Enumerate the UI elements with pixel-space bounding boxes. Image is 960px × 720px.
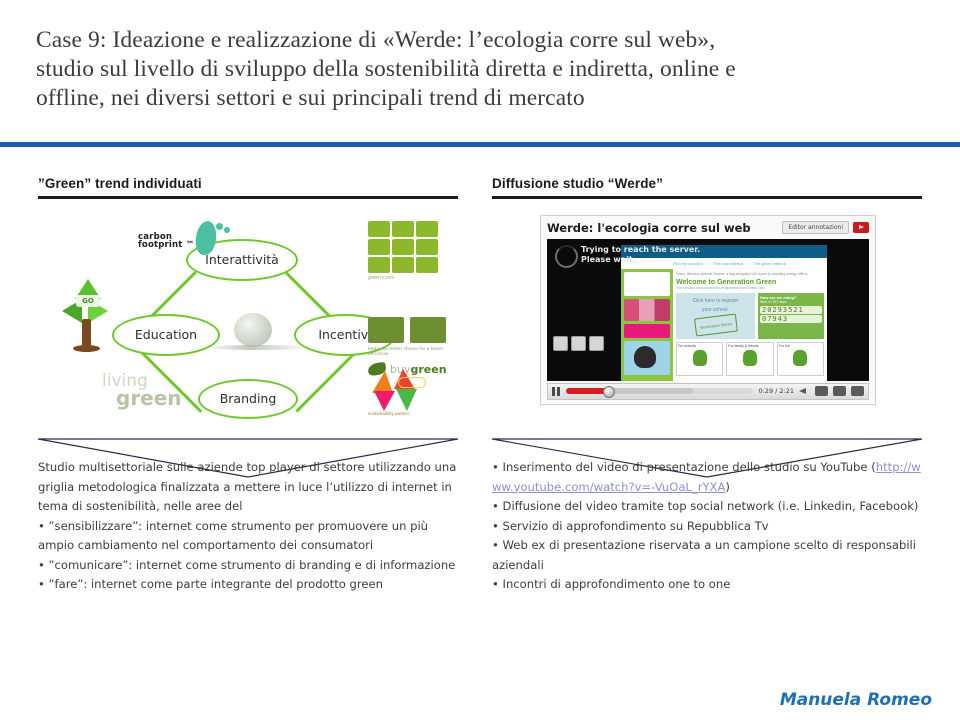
captured-sidebar-card: [624, 272, 670, 296]
olympic-shard-icon: [372, 371, 393, 393]
sustainability-partner-caption: sustainability partner: [368, 411, 409, 416]
buygreen-caption: Make the better choice for a better tomo…: [368, 346, 464, 356]
captured-card-label: For family & friends: [728, 344, 758, 348]
page-title-line-3: offline, nei diversi settori e sui princ…: [36, 84, 926, 113]
olympic-shard-icon: [374, 391, 395, 411]
buygreen-badges: [368, 317, 464, 343]
progress-handle[interactable]: [603, 386, 615, 398]
captured-stats-panel: How are we doing? Well, in 337 days... 2…: [758, 293, 824, 339]
grid-cell-icon: [392, 221, 414, 237]
green-icon-grid-logo: green icons: [368, 221, 442, 277]
diagram-node-education: Education: [112, 314, 220, 356]
player-actions: Editor annotazioni: [782, 221, 869, 234]
right-bullet-1-suffix: ): [725, 480, 730, 494]
captured-body: Tesco, Windsor Avenue School, a flag-acc…: [621, 269, 827, 381]
video-title: Werde: l'ecologia corre sul web: [547, 221, 751, 235]
buygreen-badge-icon: [368, 317, 404, 343]
video-stage[interactable]: Trying to reach the server. Please wait.…: [547, 239, 869, 381]
right-bullet-1: • Inserimento del video di presentazione…: [492, 458, 922, 497]
footprint-toe-icon: [216, 223, 223, 230]
buygreen-badge-icon: [410, 317, 446, 343]
captured-register-box: Click here to register your school. Gene…: [676, 293, 755, 339]
captured-register-line-2: your school.: [702, 307, 729, 313]
loading-message-line-1: Trying to reach the server.: [581, 245, 700, 255]
left-body-text: Studio multisettoriale sulle aziende top…: [38, 458, 458, 595]
captured-card-label: For schools: [678, 344, 696, 348]
grid-cell-icon: [416, 221, 438, 237]
olympic-rings-icon: [398, 377, 426, 388]
loading-message-line-2: Please wait...: [581, 255, 700, 265]
go-badge-label: GO: [76, 295, 100, 307]
captured-card: For family & friends: [726, 342, 773, 376]
grid-cell-icon: [392, 239, 414, 255]
right-bullet-4: • Web ex di presentazione riservata a un…: [492, 536, 922, 575]
diagram-node-branding: Branding: [198, 379, 298, 419]
captured-counter-2: 07943: [760, 315, 822, 323]
globe-shadow: [206, 345, 312, 350]
green-icon-grid: [368, 221, 442, 273]
captured-card-label: For fun: [779, 344, 790, 348]
youtube-logo-icon[interactable]: [853, 222, 869, 233]
captured-subhead: The schools and community programme from…: [676, 286, 824, 290]
grid-cell-icon: [416, 239, 438, 255]
loading-message: Trying to reach the server. Please wait.…: [581, 245, 700, 265]
player-controls[interactable]: 0:29 / 2:21: [547, 383, 869, 400]
captured-main: Tesco, Windsor Avenue School, a flag-acc…: [673, 269, 827, 381]
volume-icon[interactable]: [799, 386, 810, 396]
quality-icon[interactable]: [833, 386, 846, 396]
carbon-footprint-logo: carbon footprint ™: [138, 221, 234, 269]
grid-cell-icon: [392, 257, 414, 273]
progress-played: [566, 388, 607, 394]
green-trend-diagram: Interattività Education Incentivi Brandi…: [38, 209, 458, 417]
page-title-line-1: Case 9: Ideazione e realizzazione di «We…: [36, 26, 926, 55]
left-bullet-2: • ”comunicare”: internet come strumento …: [38, 556, 458, 576]
game-icon: [793, 350, 807, 366]
sustainability-partner-logo: sustainability partner: [368, 369, 442, 417]
footprint-toe-icon: [224, 227, 230, 233]
progress-bar[interactable]: [566, 388, 753, 394]
captured-nav-item: The green riders ▸: [753, 261, 785, 266]
right-panel: Diffusione studio “Werde” Werde: l'ecolo…: [492, 176, 922, 417]
loading-spinner-icon: [555, 245, 578, 268]
living-green-logo: living green: [102, 371, 206, 411]
right-bullet-3: • Servizio di approfondimento su Repubbl…: [492, 517, 922, 537]
captured-row: Click here to register your school. Gene…: [676, 293, 824, 339]
player-titlebar: Werde: l'ecologia corre sul web Editor a…: [547, 221, 869, 235]
captured-cards: For schools For family & friends For fun: [676, 342, 824, 376]
olympic-shard-icon: [396, 389, 417, 411]
previous-button[interactable]: [553, 336, 568, 351]
left-bullet-1: • ”sensibilizzare”: internet come strume…: [38, 517, 458, 556]
page-title: Case 9: Ideazione e realizzazione di «We…: [36, 26, 926, 113]
footprint-icon: [194, 219, 219, 255]
right-bullet-1-text: • Inserimento del video di presentazione…: [492, 460, 876, 474]
go-tree-logo: GO: [52, 279, 122, 353]
player-frame: Werde: l'ecologia corre sul web Editor a…: [540, 215, 876, 405]
captured-card: For schools: [676, 342, 723, 376]
page-title-line-2: studio sul livello di sviluppo della sos…: [36, 55, 926, 84]
next-button[interactable]: [589, 336, 604, 351]
captured-webpage: Find my school ▸ The road riders ▸ The g…: [621, 245, 827, 381]
living-green-line-2: green: [116, 386, 206, 410]
grid-cell-icon: [368, 221, 390, 237]
annotations-editor-button[interactable]: Editor annotazioni: [782, 221, 849, 234]
captured-headline: Welcome to Generation Green: [676, 279, 824, 286]
player-seek-buttons[interactable]: [553, 336, 604, 351]
pause-button[interactable]: [552, 387, 561, 396]
tree-trunk-icon: [82, 319, 91, 351]
right-panel-rule: [492, 196, 922, 199]
captured-panel-sub: Well, in 337 days...: [760, 300, 822, 304]
captured-nav-item: The road riders ▸: [713, 261, 743, 266]
left-panel-heading: ”Green” trend individuati: [38, 176, 458, 196]
captured-register-line-1: Click here to register: [693, 298, 739, 304]
fullscreen-icon[interactable]: [851, 386, 864, 396]
grid-cell-icon: [416, 257, 438, 273]
author-footer: Manuela Romeo: [780, 690, 932, 710]
left-bullet-3: • ”fare”: internet come parte integrante…: [38, 575, 458, 595]
grid-cell-icon: [368, 257, 390, 273]
right-bullet-2: • Diffusione del video tramite top socia…: [492, 497, 922, 517]
left-intro-paragraph: Studio multisettoriale sulle aziende top…: [38, 458, 458, 517]
captured-card: For fun: [777, 342, 824, 376]
carbon-footprint-label: carbon footprint ™: [138, 233, 194, 251]
right-panel-heading: Diffusione studio “Werde”: [492, 176, 922, 196]
globe-icon: [234, 313, 272, 347]
captured-counter-1: 20293521: [760, 306, 822, 314]
captured-sidebar-cta: [624, 324, 670, 338]
right-bullet-5: • Incontri di approfondimento one to one: [492, 575, 922, 595]
captured-sidebar-photo: [624, 299, 670, 321]
leaf-icon: [693, 350, 707, 366]
diagram-edge-bottom-right: [296, 351, 357, 412]
recycle-icon: GO: [62, 279, 112, 323]
left-panel: ”Green” trend individuati Interattività …: [38, 176, 458, 417]
green-icon-grid-caption: green icons: [368, 275, 442, 281]
title-divider: [0, 142, 960, 147]
replay-button[interactable]: [571, 336, 586, 351]
generation-green-stamp: Generation Green: [694, 313, 738, 336]
right-body-text: • Inserimento del video di presentazione…: [492, 458, 922, 595]
diagram-node-label: Education: [135, 327, 197, 342]
diagram-node-label: Incentivi: [318, 327, 371, 342]
youtube-player-screenshot: Werde: l'ecologia corre sul web Editor a…: [492, 209, 922, 417]
grid-cell-icon: [368, 239, 390, 255]
captured-breadcrumb: Tesco, Windsor Avenue School, a flag-acc…: [676, 272, 824, 276]
captured-sidebar-illustration: [624, 341, 670, 375]
captions-icon[interactable]: [815, 386, 828, 396]
time-display: 0:29 / 2:21: [758, 387, 794, 395]
people-icon: [743, 350, 757, 366]
captured-sidebar: [621, 269, 673, 381]
left-panel-rule: [38, 196, 458, 199]
diagram-node-label: Branding: [220, 391, 277, 406]
